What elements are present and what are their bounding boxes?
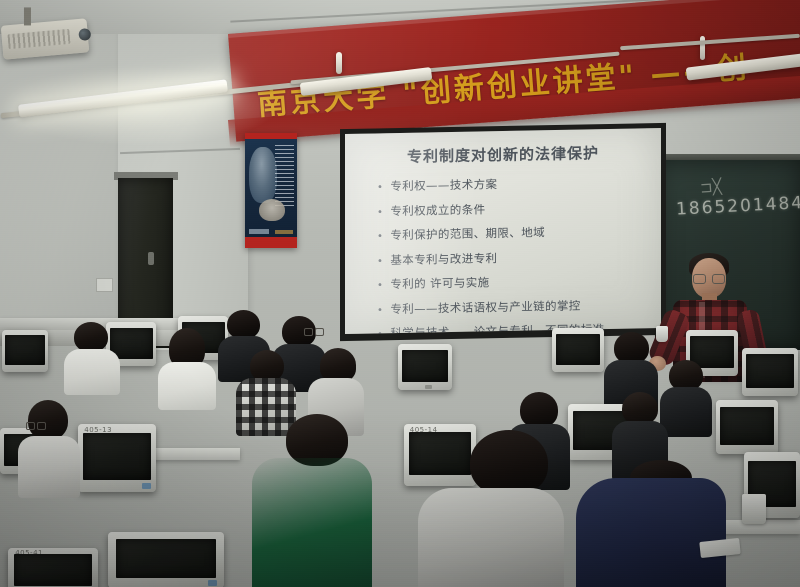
blackboard-chalk-mark: ⊐╳ — [699, 177, 722, 196]
cup — [742, 494, 766, 524]
projector-vent — [7, 29, 70, 49]
poster-footer-bar — [245, 237, 297, 248]
student-navy-hoodie — [576, 460, 726, 587]
monitor-screen — [402, 350, 448, 382]
monitor — [742, 348, 798, 396]
student-green-shirt — [252, 414, 372, 587]
student-dark-hair-back-left — [64, 322, 120, 392]
door-handle-icon[interactable] — [148, 252, 154, 265]
glasses-icon — [693, 274, 725, 282]
monitor — [398, 344, 452, 390]
wall-poster — [245, 133, 297, 248]
student-head — [470, 430, 548, 496]
screen-glare — [345, 128, 550, 334]
poster-portrait — [249, 147, 277, 203]
projection-screen: 专利制度对创新的法律保护 专利权——技术方案 专利权成立的条件 专利保护的范围、… — [345, 128, 661, 334]
projector-mount — [24, 7, 31, 25]
student-head — [520, 392, 558, 428]
student-head — [74, 322, 108, 352]
monitor-badge — [208, 580, 217, 586]
student-body — [418, 488, 564, 587]
monitor-screen — [14, 554, 91, 586]
glasses-icon — [304, 328, 324, 334]
poster-logo — [249, 229, 269, 234]
poster-hands — [259, 199, 285, 221]
monitor — [552, 328, 604, 372]
monitor-screen — [720, 407, 773, 445]
monitor — [716, 400, 778, 454]
student-body — [18, 436, 80, 498]
student-body — [252, 458, 372, 587]
student-body — [64, 349, 120, 395]
glasses-icon — [26, 422, 46, 428]
monitor-screen — [116, 539, 216, 578]
classroom-photo: 南京大学 "创新创业讲堂" ——创 18652014849 ⊐╳ 专利制度 — [0, 0, 800, 587]
student-grey-shirt-front — [418, 430, 564, 587]
bottle — [656, 326, 668, 342]
student-foreground-left — [18, 400, 80, 496]
poster-logo-secondary — [275, 230, 293, 234]
monitor-screen — [746, 354, 794, 388]
light-hanger — [336, 52, 342, 74]
student-head — [227, 310, 260, 339]
student-head — [320, 348, 356, 382]
poster-quote-text — [275, 145, 294, 207]
monitor — [108, 532, 224, 587]
monitor-screen — [556, 334, 601, 365]
light-switch[interactable] — [96, 278, 113, 292]
monitor: 405-13 — [78, 424, 156, 492]
student-body — [158, 362, 216, 410]
monitor-power-button[interactable] — [425, 385, 432, 389]
monitor — [2, 330, 48, 372]
monitor-screen — [5, 335, 45, 364]
student-body — [576, 478, 726, 587]
poster-top-bar — [245, 133, 297, 139]
monitor-badge — [142, 483, 151, 489]
monitor: 405-41 — [8, 548, 98, 587]
student-long-hair-left — [158, 328, 216, 408]
monitor-screen — [83, 433, 150, 481]
student-head — [28, 400, 68, 440]
